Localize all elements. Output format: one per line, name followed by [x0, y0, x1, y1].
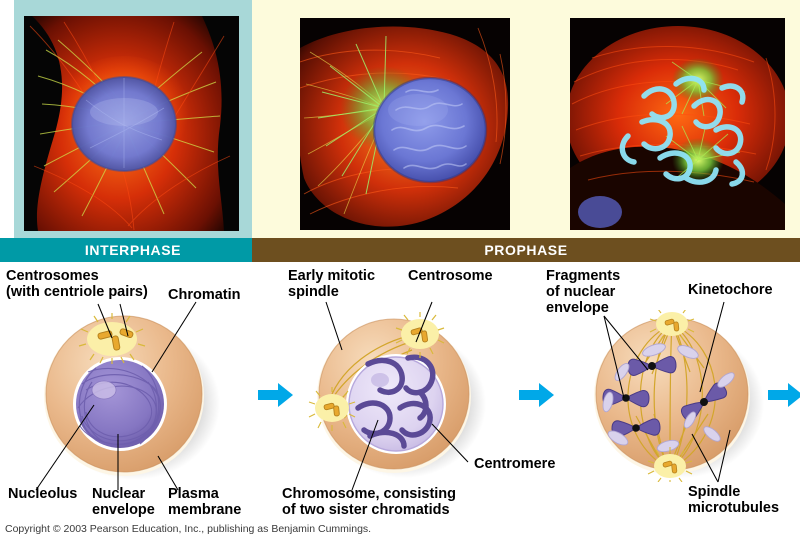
label-centromere: Centromere [474, 456, 555, 472]
cell-diagram-prometaphase [580, 310, 780, 482]
arrow-prophase-to-prometaphase [519, 382, 555, 408]
label-chromatin: Chromatin [168, 287, 241, 303]
micrograph-interphase [24, 16, 239, 231]
cell-diagram-interphase [12, 312, 242, 482]
micrograph-prophase [300, 18, 510, 230]
stage-band-interphase: INTERPHASE [14, 238, 252, 262]
stage-band-prophase-label: PROPHASE [484, 242, 567, 258]
label-fragments-nuclear-envelope: Fragments of nuclear envelope [546, 268, 620, 317]
label-early-mitotic-spindle: Early mitotic spindle [288, 268, 375, 300]
stage-band-prophase: PROPHASE [252, 238, 800, 262]
label-plasma-membrane: Plasma membrane [168, 486, 241, 518]
band-edge-fill [0, 238, 14, 262]
arrow-interphase-to-prophase [258, 382, 294, 408]
copyright-notice: Copyright © 2003 Pearson Education, Inc.… [5, 523, 371, 535]
micrograph-prometaphase [570, 18, 785, 230]
cell-diagram-prophase [292, 312, 502, 482]
mitosis-figure: INTERPHASE PROPHASE [0, 0, 800, 543]
stage-band-interphase-label: INTERPHASE [85, 242, 181, 258]
label-chromosome: Chromosome, consisting of two sister chr… [282, 486, 456, 518]
label-nucleolus: Nucleolus [8, 486, 77, 502]
label-centrosome: Centrosome [408, 268, 493, 284]
arrow-prometaphase-to-next [768, 382, 800, 408]
label-centrosomes: Centrosomes (with centriole pairs) [6, 268, 148, 300]
label-spindle-microtubules: Spindle microtubules [688, 484, 779, 516]
label-kinetochore: Kinetochore [688, 282, 773, 298]
label-nuclear-envelope: Nuclear envelope [92, 486, 155, 518]
